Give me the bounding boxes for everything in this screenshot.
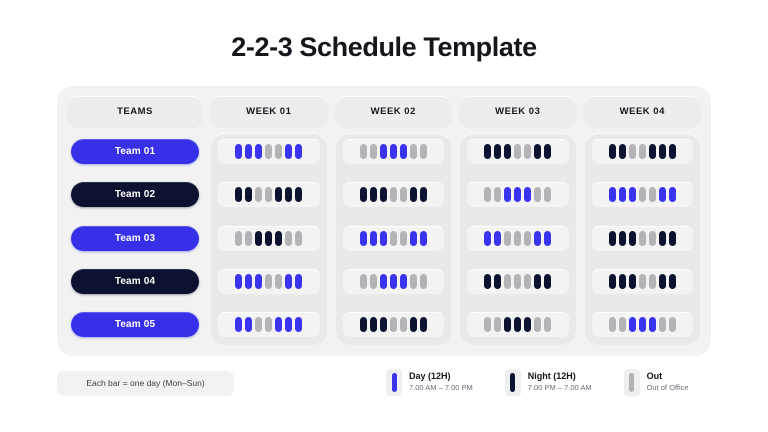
shift-bar-out-fri[interactable] xyxy=(400,187,407,202)
week-panel-4 xyxy=(585,133,701,345)
shift-bar-out-fri[interactable] xyxy=(524,231,531,246)
shift-bar-night-wed[interactable] xyxy=(380,187,387,202)
shift-bar-out-mon[interactable] xyxy=(360,144,367,159)
shift-bar-day-sat[interactable] xyxy=(285,317,292,332)
shift-bar-out-wed[interactable] xyxy=(504,274,511,289)
header-pill-week-02[interactable]: WEEK 02 xyxy=(336,96,452,126)
shift-bar-out-sat[interactable] xyxy=(534,187,541,202)
shift-bar-night-sun[interactable] xyxy=(420,317,427,332)
shift-bar-day-mon[interactable] xyxy=(235,144,242,159)
shift-bar-day-thu[interactable] xyxy=(390,274,397,289)
legend-text-night: Night (12H)7.00 PM – 7.00 AM xyxy=(528,369,592,394)
shift-bar-night-mon[interactable] xyxy=(360,187,367,202)
shift-bar-night-sat[interactable] xyxy=(659,231,666,246)
team-pill-2[interactable]: Team 02 xyxy=(71,182,199,207)
shift-bar-out-sat[interactable] xyxy=(534,317,541,332)
legend-swatch-box-night xyxy=(505,369,521,396)
shift-bar-out-sun[interactable] xyxy=(544,317,551,332)
shift-bar-day-tue[interactable] xyxy=(245,144,252,159)
schedule-row-w1-t5[interactable] xyxy=(218,312,320,337)
shift-bar-day-wed[interactable] xyxy=(504,187,511,202)
shift-bar-out-thu[interactable] xyxy=(639,231,646,246)
shift-bar-night-tue[interactable] xyxy=(494,144,501,159)
shift-bar-day-tue[interactable] xyxy=(245,317,252,332)
teams-column: Team 01Team 02Team 03Team 04Team 05 xyxy=(68,133,202,345)
shift-bar-out-thu[interactable] xyxy=(390,187,397,202)
schedule-row-w2-t1[interactable] xyxy=(343,139,445,164)
shift-bar-night-sat[interactable] xyxy=(659,274,666,289)
schedule-row-w4-t1[interactable] xyxy=(592,139,694,164)
shift-bar-out-fri[interactable] xyxy=(275,144,282,159)
shift-bar-out-tue[interactable] xyxy=(245,231,252,246)
shift-bar-out-tue[interactable] xyxy=(619,317,626,332)
schedule-row-w3-t4[interactable] xyxy=(467,269,569,294)
shift-bar-night-fri[interactable] xyxy=(649,144,656,159)
shift-bar-out-sat[interactable] xyxy=(285,231,292,246)
shift-bar-night-sun[interactable] xyxy=(295,187,302,202)
schedule-row-w3-t1[interactable] xyxy=(467,139,569,164)
header-pill-week-04[interactable]: WEEK 04 xyxy=(585,96,701,126)
schedule-row-w2-t3[interactable] xyxy=(343,226,445,251)
shift-bar-out-mon[interactable] xyxy=(235,231,242,246)
shift-bar-night-mon[interactable] xyxy=(609,231,616,246)
shift-bar-night-thu[interactable] xyxy=(514,317,521,332)
schedule-row-w1-t2[interactable] xyxy=(218,182,320,207)
shift-bar-day-wed[interactable] xyxy=(629,187,636,202)
shift-bar-night-mon[interactable] xyxy=(360,317,367,332)
schedule-row-w1-t4[interactable] xyxy=(218,269,320,294)
legend-item-out: OutOut of Office xyxy=(624,369,689,396)
schedule-row-w4-t2[interactable] xyxy=(592,182,694,207)
shift-bar-night-mon[interactable] xyxy=(484,144,491,159)
shift-bar-out-wed[interactable] xyxy=(629,144,636,159)
shift-bar-night-sat[interactable] xyxy=(410,187,417,202)
schedule-row-w2-t4[interactable] xyxy=(343,269,445,294)
shift-bar-night-tue[interactable] xyxy=(619,231,626,246)
shift-bar-night-sat[interactable] xyxy=(534,274,541,289)
shift-bar-day-fri[interactable] xyxy=(400,144,407,159)
shift-bar-day-tue[interactable] xyxy=(245,274,252,289)
shift-bar-out-thu[interactable] xyxy=(514,231,521,246)
shift-bar-night-tue[interactable] xyxy=(370,317,377,332)
shift-bar-night-wed[interactable] xyxy=(255,231,262,246)
header-row: TEAMSWEEK 01WEEK 02WEEK 03WEEK 04 xyxy=(68,96,700,126)
header-pill-week-01[interactable]: WEEK 01 xyxy=(211,96,327,126)
shift-bar-night-fri[interactable] xyxy=(275,187,282,202)
shift-bar-day-fri[interactable] xyxy=(524,187,531,202)
shift-bar-out-tue[interactable] xyxy=(370,144,377,159)
shift-bar-out-fri[interactable] xyxy=(649,187,656,202)
shift-bar-night-sun[interactable] xyxy=(544,144,551,159)
shift-bar-out-mon[interactable] xyxy=(484,317,491,332)
shift-bar-day-mon[interactable] xyxy=(235,317,242,332)
shift-bar-day-wed[interactable] xyxy=(380,231,387,246)
shift-bar-day-sat[interactable] xyxy=(285,274,292,289)
header-pill-week-03[interactable]: WEEK 03 xyxy=(460,96,576,126)
team-pill-4[interactable]: Team 04 xyxy=(71,269,199,294)
shift-bar-out-thu[interactable] xyxy=(390,317,397,332)
shift-bar-out-sun[interactable] xyxy=(544,187,551,202)
legend-label-day: Day (12H) xyxy=(409,371,473,382)
shift-bar-out-fri[interactable] xyxy=(524,144,531,159)
shift-bar-day-tue[interactable] xyxy=(370,231,377,246)
header-pill-teams[interactable]: TEAMS xyxy=(68,96,202,126)
shift-bar-day-tue[interactable] xyxy=(494,231,501,246)
shift-bar-out-tue[interactable] xyxy=(370,274,377,289)
legend-sub-day: 7.00 AM – 7.00 PM xyxy=(409,383,473,394)
shift-bar-out-thu[interactable] xyxy=(265,317,272,332)
shift-bar-out-sun[interactable] xyxy=(295,231,302,246)
shift-bar-night-tue[interactable] xyxy=(619,274,626,289)
shift-bar-day-tue[interactable] xyxy=(619,187,626,202)
shift-bar-day-sun[interactable] xyxy=(669,187,676,202)
schedule-row-w4-t5[interactable] xyxy=(592,312,694,337)
shift-bar-day-wed[interactable] xyxy=(255,274,262,289)
shift-bar-night-sun[interactable] xyxy=(420,187,427,202)
shift-bar-night-mon[interactable] xyxy=(484,274,491,289)
schedule-row-w3-t2[interactable] xyxy=(467,182,569,207)
shift-bar-out-sun[interactable] xyxy=(420,274,427,289)
shift-bar-out-sat[interactable] xyxy=(410,144,417,159)
shift-bar-day-wed[interactable] xyxy=(629,317,636,332)
shift-bar-night-thu[interactable] xyxy=(265,231,272,246)
shift-bar-out-fri[interactable] xyxy=(400,231,407,246)
shift-bar-out-mon[interactable] xyxy=(484,187,491,202)
shift-bar-day-fri[interactable] xyxy=(649,317,656,332)
legend-item-night: Night (12H)7.00 PM – 7.00 AM xyxy=(505,369,592,396)
shift-bar-day-sun[interactable] xyxy=(295,317,302,332)
shift-bar-out-thu[interactable] xyxy=(265,144,272,159)
page-title: 2-2-3 Schedule Template xyxy=(0,32,768,63)
shift-bar-out-thu[interactable] xyxy=(390,231,397,246)
shift-bar-out-thu[interactable] xyxy=(639,144,646,159)
shift-bar-night-mon[interactable] xyxy=(235,187,242,202)
legend-label-night: Night (12H) xyxy=(528,371,592,382)
shift-bar-out-thu[interactable] xyxy=(514,274,521,289)
shift-bar-out-thu[interactable] xyxy=(639,274,646,289)
shift-bar-out-mon[interactable] xyxy=(609,317,616,332)
shift-bar-out-wed[interactable] xyxy=(255,317,262,332)
shift-bar-night-tue[interactable] xyxy=(619,144,626,159)
shift-bar-night-tue[interactable] xyxy=(245,187,252,202)
shift-bar-day-fri[interactable] xyxy=(275,317,282,332)
legend-swatch-night-icon xyxy=(510,373,515,392)
team-pill-1[interactable]: Team 01 xyxy=(71,139,199,164)
legend-swatch-box-day xyxy=(386,369,402,396)
shift-bar-out-wed[interactable] xyxy=(504,231,511,246)
shift-bar-day-wed[interactable] xyxy=(380,274,387,289)
shift-bar-day-fri[interactable] xyxy=(400,274,407,289)
schedule-row-w3-t5[interactable] xyxy=(467,312,569,337)
shift-bar-out-mon[interactable] xyxy=(360,274,367,289)
shift-bar-out-fri[interactable] xyxy=(400,317,407,332)
shift-bar-out-fri[interactable] xyxy=(275,274,282,289)
shift-bar-out-tue[interactable] xyxy=(494,317,501,332)
legend-sub-night: 7.00 PM – 7.00 AM xyxy=(528,383,592,394)
schedule-row-w2-t2[interactable] xyxy=(343,182,445,207)
shift-bar-day-thu[interactable] xyxy=(514,187,521,202)
team-pill-5[interactable]: Team 05 xyxy=(71,312,199,337)
shift-bar-night-sat[interactable] xyxy=(285,187,292,202)
week-panel-3 xyxy=(460,133,576,345)
legend-text-out: OutOut of Office xyxy=(647,369,689,394)
legend-swatch-out-icon xyxy=(629,373,634,392)
shift-bar-night-sun[interactable] xyxy=(669,231,676,246)
shift-bar-night-tue[interactable] xyxy=(494,274,501,289)
shift-bar-night-fri[interactable] xyxy=(524,317,531,332)
shift-bar-out-wed[interactable] xyxy=(255,187,262,202)
legend-item-day: Day (12H)7.00 AM – 7.00 PM xyxy=(386,369,473,396)
shift-bar-day-mon[interactable] xyxy=(235,274,242,289)
legend-swatch-day-icon xyxy=(392,373,397,392)
schedule-template-page: 2-2-3 Schedule Template TEAMSWEEK 01WEEK… xyxy=(0,0,768,432)
shift-bar-night-mon[interactable] xyxy=(609,274,616,289)
shift-bar-out-sat[interactable] xyxy=(659,317,666,332)
shift-bar-day-mon[interactable] xyxy=(484,231,491,246)
shift-bar-night-sat[interactable] xyxy=(659,144,666,159)
team-pill-3[interactable]: Team 03 xyxy=(71,226,199,251)
shift-bar-out-fri[interactable] xyxy=(649,231,656,246)
schedule-card: TEAMSWEEK 01WEEK 02WEEK 03WEEK 04 Team 0… xyxy=(57,86,711,356)
shift-legend: Day (12H)7.00 AM – 7.00 PMNight (12H)7.0… xyxy=(386,369,689,396)
legend-text-day: Day (12H)7.00 AM – 7.00 PM xyxy=(409,369,473,394)
bar-legend-note: Each bar = one day (Mon–Sun) xyxy=(57,370,234,396)
week-panel-1 xyxy=(211,133,327,345)
shift-bar-night-wed[interactable] xyxy=(380,317,387,332)
shift-bar-out-sun[interactable] xyxy=(420,144,427,159)
legend-swatch-box-out xyxy=(624,369,640,396)
shift-bar-out-fri[interactable] xyxy=(524,274,531,289)
shift-bar-night-sat[interactable] xyxy=(410,317,417,332)
shift-bar-day-sat[interactable] xyxy=(410,231,417,246)
shift-bar-night-wed[interactable] xyxy=(629,231,636,246)
shift-bar-out-tue[interactable] xyxy=(494,187,501,202)
shift-bar-day-sun[interactable] xyxy=(295,144,302,159)
shift-bar-out-thu[interactable] xyxy=(265,187,272,202)
shift-bar-day-mon[interactable] xyxy=(609,187,616,202)
shift-bar-day-mon[interactable] xyxy=(360,231,367,246)
shift-bar-night-fri[interactable] xyxy=(275,231,282,246)
shift-bar-day-sun[interactable] xyxy=(544,231,551,246)
schedule-row-w1-t1[interactable] xyxy=(218,139,320,164)
schedule-row-w4-t4[interactable] xyxy=(592,269,694,294)
shift-bar-out-sat[interactable] xyxy=(410,274,417,289)
shift-bar-day-sat[interactable] xyxy=(534,231,541,246)
shift-bar-out-fri[interactable] xyxy=(649,274,656,289)
shift-bar-day-sun[interactable] xyxy=(295,274,302,289)
shift-bar-day-sun[interactable] xyxy=(420,231,427,246)
schedule-row-w2-t5[interactable] xyxy=(343,312,445,337)
shift-bar-night-wed[interactable] xyxy=(504,144,511,159)
shift-bar-night-sat[interactable] xyxy=(534,144,541,159)
shift-bar-day-wed[interactable] xyxy=(255,144,262,159)
schedule-row-w3-t3[interactable] xyxy=(467,226,569,251)
shift-bar-day-sat[interactable] xyxy=(659,187,666,202)
shift-bar-out-thu[interactable] xyxy=(514,144,521,159)
shift-bar-day-wed[interactable] xyxy=(380,144,387,159)
shift-bar-night-sun[interactable] xyxy=(669,274,676,289)
shift-bar-day-thu[interactable] xyxy=(390,144,397,159)
shift-bar-night-wed[interactable] xyxy=(629,274,636,289)
shift-bar-out-thu[interactable] xyxy=(639,187,646,202)
shift-bar-out-thu[interactable] xyxy=(265,274,272,289)
shift-bar-night-mon[interactable] xyxy=(609,144,616,159)
shift-bar-night-sun[interactable] xyxy=(544,274,551,289)
shift-bar-night-tue[interactable] xyxy=(370,187,377,202)
shift-bar-out-sun[interactable] xyxy=(669,317,676,332)
schedule-row-w1-t3[interactable] xyxy=(218,226,320,251)
legend-label-out: Out xyxy=(647,371,689,382)
shift-bar-night-sun[interactable] xyxy=(669,144,676,159)
shift-bar-night-wed[interactable] xyxy=(504,317,511,332)
shift-bar-day-thu[interactable] xyxy=(639,317,646,332)
schedule-row-w4-t3[interactable] xyxy=(592,226,694,251)
shift-bar-day-sat[interactable] xyxy=(285,144,292,159)
legend-sub-out: Out of Office xyxy=(647,383,689,394)
schedule-body: Team 01Team 02Team 03Team 04Team 05 xyxy=(68,133,700,345)
week-panel-2 xyxy=(336,133,452,345)
